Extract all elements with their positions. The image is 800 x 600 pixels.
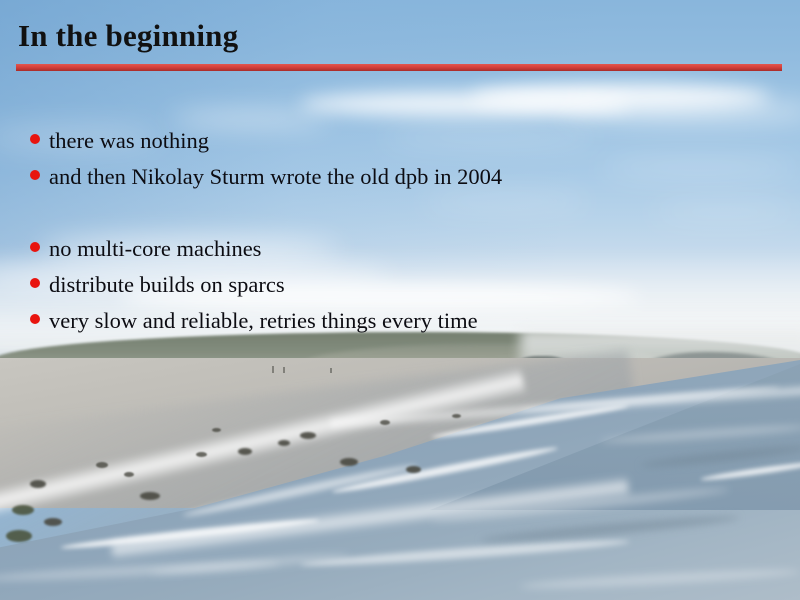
seaweed-clump: [30, 480, 46, 488]
pebble: [196, 452, 207, 457]
pebble: [124, 472, 134, 477]
seaweed-clump: [300, 432, 316, 439]
pebble: [278, 440, 290, 446]
list-item: distribute builds on sparcs: [30, 274, 770, 310]
list-item-label: and then Nikolay Sturm wrote the old dpb…: [49, 166, 502, 189]
distant-figure: [283, 367, 285, 373]
pebble: [96, 462, 108, 468]
bullet-dot-icon: [30, 314, 40, 324]
seaweed-clump: [44, 518, 62, 526]
pebble: [212, 428, 221, 432]
list-item: no multi-core machines: [30, 238, 770, 274]
list-item-label: no multi-core machines: [49, 238, 261, 261]
list-item-label: very slow and reliable, retries things e…: [49, 310, 478, 333]
seaweed-clump: [6, 530, 32, 542]
seaweed-clump: [12, 505, 34, 515]
list-item: very slow and reliable, retries things e…: [30, 310, 770, 346]
list-item: there was nothing: [30, 130, 770, 166]
seaweed-clump: [140, 492, 160, 500]
list-spacer: [30, 202, 770, 238]
pebble: [380, 420, 390, 425]
distant-figure: [272, 366, 274, 373]
distant-figure: [330, 368, 332, 373]
pebble: [238, 448, 252, 455]
list-item: and then Nikolay Sturm wrote the old dpb…: [30, 166, 770, 202]
presentation-slide: In the beginning there was nothing and t…: [0, 0, 800, 600]
bullet-dot-icon: [30, 242, 40, 252]
bullet-dot-icon: [30, 134, 40, 144]
slide-title: In the beginning: [18, 20, 238, 53]
bullet-dot-icon: [30, 170, 40, 180]
bullet-list: there was nothing and then Nikolay Sturm…: [30, 130, 770, 346]
title-underline-rule: [16, 64, 782, 71]
cloud-shape: [170, 112, 330, 126]
pebble: [452, 414, 461, 418]
list-item-label: distribute builds on sparcs: [49, 274, 285, 297]
bullet-dot-icon: [30, 278, 40, 288]
pebble: [406, 466, 421, 473]
seaweed-clump: [340, 458, 358, 466]
list-item-label: there was nothing: [49, 130, 209, 153]
